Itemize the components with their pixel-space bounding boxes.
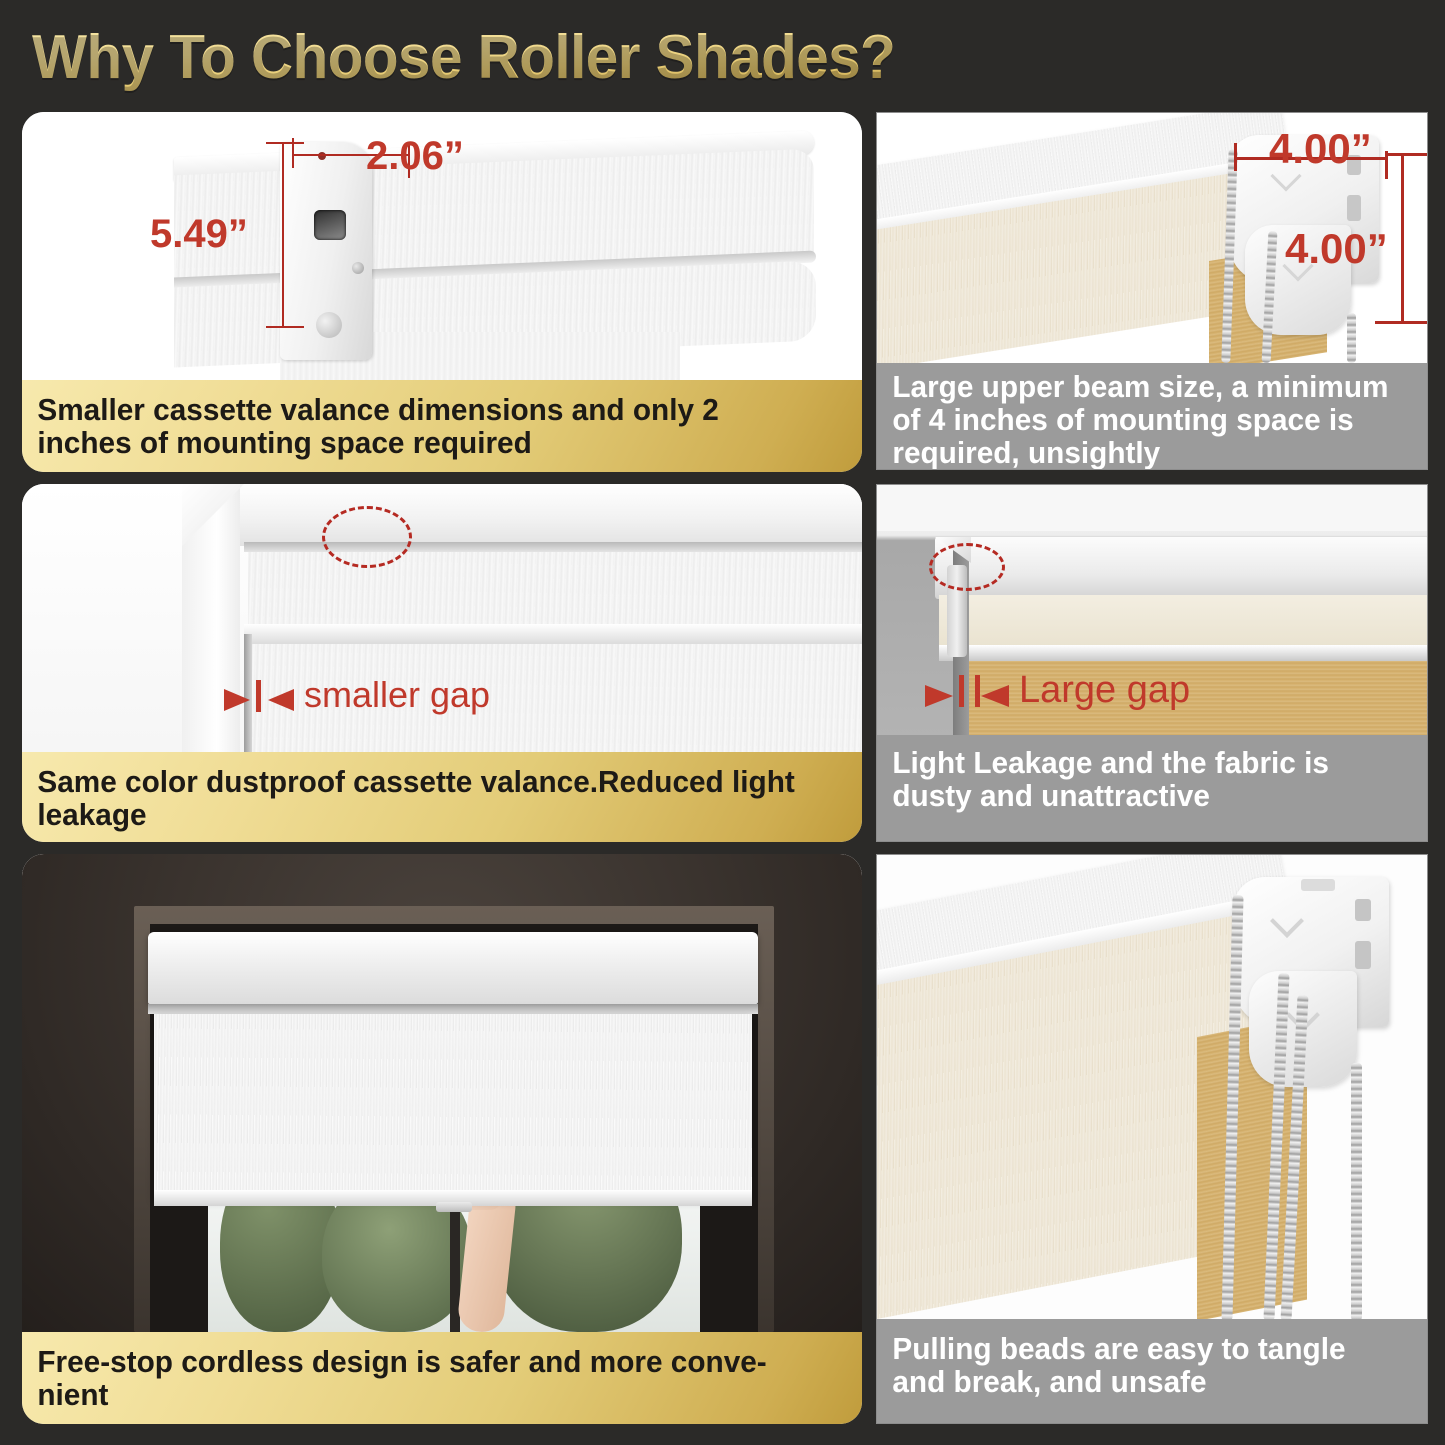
- gap-label-smaller: smaller gap: [304, 674, 490, 716]
- beam-height-dimension-label: 4.00”: [1285, 225, 1388, 273]
- caption-bar-cordless-design: Free-stop cordless design is safer and m…: [22, 1332, 862, 1424]
- wall-upper-white: [877, 485, 1427, 531]
- valance-shadow-groove: [148, 1004, 758, 1014]
- caption-text: Free-stop cordless design is safer and m…: [22, 1332, 828, 1422]
- caption-text: Pulling beads are easy to tangle and bre…: [877, 1319, 1405, 1409]
- caption-bar-pulling-beads: Pulling beads are easy to tangle and bre…: [877, 1319, 1427, 1423]
- caption-text: Large upper beam size, a minimum of 4 in…: [877, 363, 1405, 470]
- page-title: Why To Choose Roller Shades?: [32, 22, 895, 93]
- beam-fabric-band: [939, 595, 1427, 651]
- caption-text: Smaller cassette valance dimensions and …: [22, 380, 828, 470]
- end-cap-screw-lower: [316, 312, 342, 338]
- dustproof-cassette-image: smaller gap: [22, 484, 862, 752]
- upper-beam-body: [935, 537, 1427, 599]
- roller-shade-fabric: [154, 1014, 752, 1198]
- end-cap-screw-upper: [352, 262, 364, 274]
- shade-pull-tab: [436, 1202, 472, 1212]
- pulling-beads-image: [877, 855, 1427, 1321]
- panel-dustproof-cassette: smaller gap Same color dustproof cassett…: [22, 484, 862, 842]
- height-dim-tick-bottom: [266, 326, 304, 328]
- bracket-slot-lower: [1355, 941, 1371, 969]
- gap-marker-bar-right: [975, 675, 980, 707]
- caption-text: Light Leakage and the fabric is dusty an…: [877, 735, 1405, 823]
- bracket-slot-lower: [1347, 195, 1361, 221]
- gap-highlight-ellipse: [322, 506, 412, 568]
- cordless-design-image: [22, 854, 862, 1332]
- caption-text: Same color dustproof cassette valance.Re…: [22, 752, 828, 842]
- gap-label-large: Large gap: [1019, 669, 1190, 712]
- height-dim-line: [282, 142, 284, 328]
- caption-bar-dustproof-cassette: Same color dustproof cassette valance.Re…: [22, 752, 862, 842]
- beam-height-dim-line: [1401, 153, 1404, 323]
- gap-arrow-right: [981, 685, 1009, 707]
- beam-width-tick-left: [1234, 143, 1237, 171]
- caption-bar-light-leakage: Light Leakage and the fabric is dusty an…: [877, 735, 1427, 841]
- gap-arrow-right: [268, 689, 294, 711]
- cassette-valance-head: [148, 932, 758, 1004]
- shade-fabric-upper: [248, 552, 862, 632]
- caption-bar-large-upper-beam: Large upper beam size, a minimum of 4 in…: [877, 363, 1427, 469]
- gap-marker-bar: [256, 680, 261, 712]
- window-frame-top: [182, 484, 862, 546]
- cassette-dimensions-image: 2.06” 5.49”: [22, 112, 862, 384]
- gap-arrow-left: [224, 689, 250, 711]
- gap-marker-bar-left: [959, 675, 964, 707]
- panel-light-leakage: Large gap Light Leakage and the fabric i…: [876, 484, 1428, 842]
- end-cap-slot: [314, 210, 346, 240]
- valance-bottom-lip: [244, 624, 862, 644]
- height-dimension-label: 5.49”: [150, 212, 248, 257]
- bracket-slot-upper: [1355, 899, 1371, 921]
- beam-width-dimension-label: 4.00”: [1269, 125, 1372, 173]
- panel-large-upper-beam: 4.00” 4.00” Large upper beam size, a min…: [876, 112, 1428, 470]
- panel-pulling-beads: Pulling beads are easy to tangle and bre…: [876, 854, 1428, 1424]
- height-dim-tick-top: [266, 142, 304, 144]
- beam-height-tick-top: [1385, 153, 1427, 156]
- bracket-top-notch: [1301, 879, 1335, 891]
- beam-bottom-rail: [939, 645, 1427, 661]
- panel-cassette-dimensions: 2.06” 5.49” Smaller cassette valance dim…: [22, 112, 862, 472]
- bead-chain-right: [1351, 1063, 1362, 1321]
- gap-arrow-left: [925, 685, 953, 707]
- bead-chain-right: [1347, 313, 1356, 363]
- beam-height-tick-bottom: [1375, 321, 1427, 324]
- width-dimension-label: 2.06”: [366, 134, 464, 179]
- panel-cordless-design: Free-stop cordless design is safer and m…: [22, 854, 862, 1424]
- light-leakage-image: Large gap: [877, 485, 1427, 737]
- caption-bar-cassette-dimensions: Smaller cassette valance dimensions and …: [22, 380, 862, 472]
- large-upper-beam-image: 4.00” 4.00”: [877, 113, 1427, 363]
- gap-highlight-ellipse: [929, 543, 1005, 591]
- infographic-root: Why To Choose Roller Shades? 2.06”: [0, 0, 1445, 1445]
